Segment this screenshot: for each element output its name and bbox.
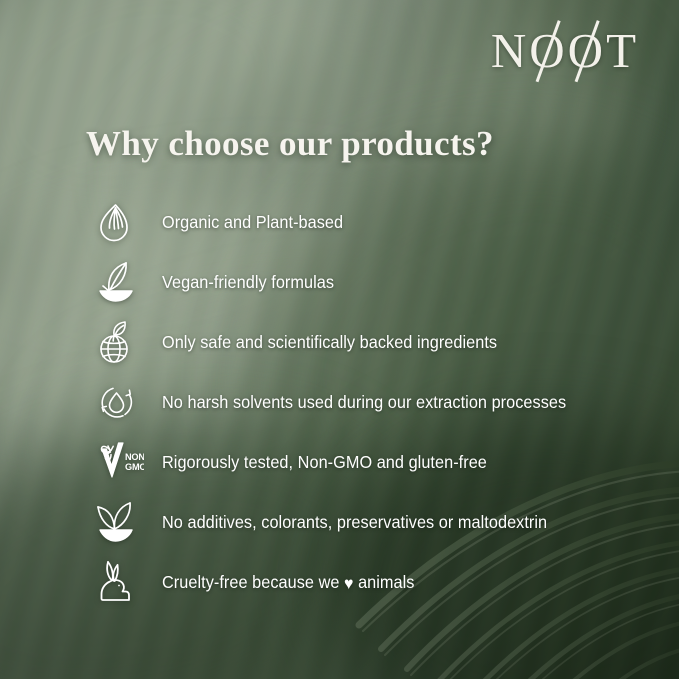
logo-letter-n: N <box>491 23 529 78</box>
list-item-label: Rigorously tested, Non-GMO and gluten-fr… <box>162 452 487 473</box>
list-item-label: No additives, colorants, preservatives o… <box>162 512 547 533</box>
list-item: No additives, colorants, preservatives o… <box>96 492 636 552</box>
leaf-droplet-icon <box>96 198 144 246</box>
list-item-label: Vegan-friendly formulas <box>162 272 334 293</box>
label-text-after: animals <box>358 572 414 592</box>
list-item: Cruelty-free because we ♥ animals <box>96 552 636 612</box>
non-gmo-line2: GMO <box>125 462 144 472</box>
rabbit-icon <box>96 558 144 606</box>
sprout-bowl-icon <box>96 258 144 306</box>
list-item: Only safe and scientifically backed ingr… <box>96 312 636 372</box>
list-item: No harsh solvents used during our extrac… <box>96 372 636 432</box>
logo-letter-t: T <box>606 23 639 78</box>
list-item: Vegan-friendly formulas <box>96 252 636 312</box>
list-item: Organic and Plant-based <box>96 192 636 252</box>
list-item-label: Cruelty-free because we ♥ animals <box>162 572 414 593</box>
list-item-label: Organic and Plant-based <box>162 212 343 233</box>
brand-logo: NOOT <box>491 26 639 75</box>
list-item: NON GMO Rigorously tested, Non-GMO and g… <box>96 432 636 492</box>
heart-icon: ♥ <box>344 574 353 594</box>
list-item-label: No harsh solvents used during our extrac… <box>162 392 566 413</box>
water-drop-cycle-icon <box>96 378 144 426</box>
logo-letter-o-slashed: O <box>568 26 606 75</box>
non-gmo-line1: NON <box>125 452 144 462</box>
label-text-before: Cruelty-free because we <box>162 572 339 592</box>
promo-banner: NOOT Why choose our products? Organic an… <box>0 0 679 679</box>
logo-letter-o-slashed: O <box>529 26 567 75</box>
non-gmo-butterfly-icon: NON GMO <box>96 438 144 486</box>
list-item-label: Only safe and scientifically backed ingr… <box>162 332 497 353</box>
two-leaves-sprout-icon <box>96 498 144 546</box>
feature-list: Organic and Plant-based Vegan-friendly f… <box>96 192 636 612</box>
globe-leaf-icon <box>96 318 144 366</box>
page-title: Why choose our products? <box>86 124 494 164</box>
